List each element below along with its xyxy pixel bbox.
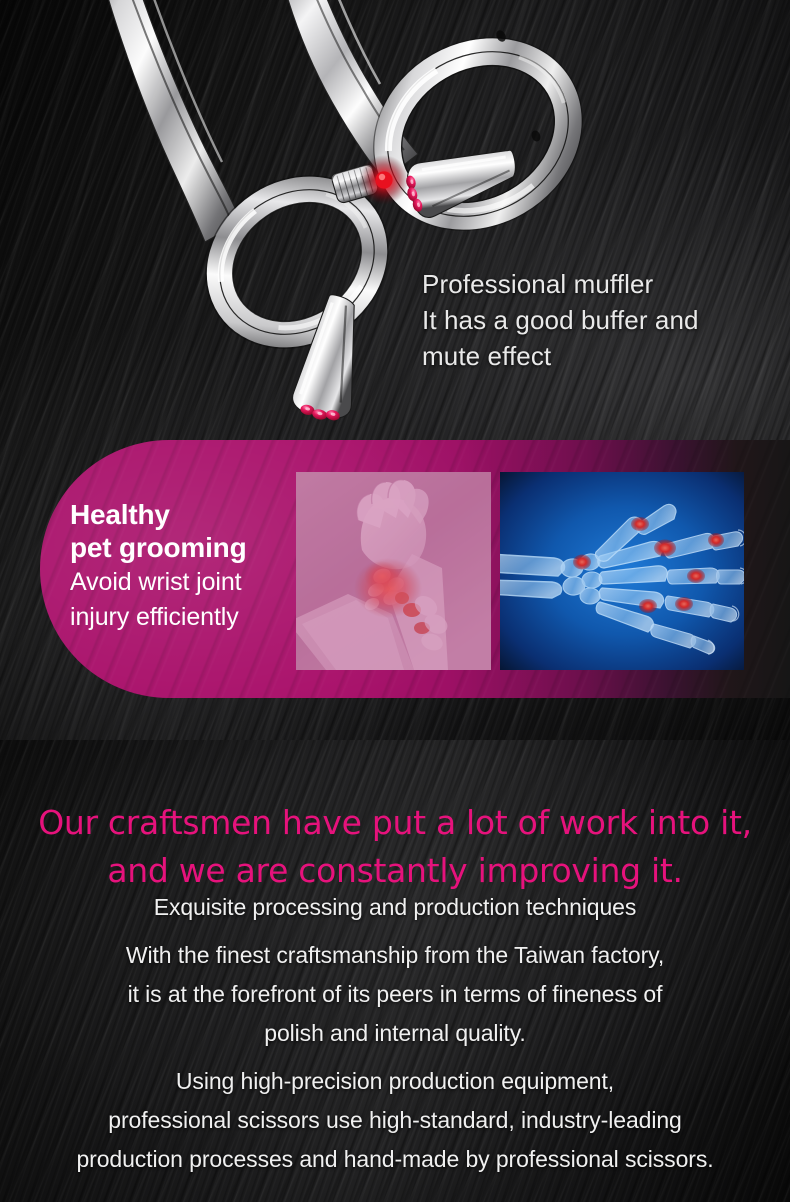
paragraph-2-line-2: it is at the forefront of its peers in t… [0, 975, 790, 1014]
craftsmanship-panel: Our craftsmen have put a lot of work int… [0, 740, 790, 1202]
paragraph-3-line-1: Using high-precision production equipmen… [0, 1062, 790, 1101]
headline-line-1: Our craftsmen have put a lot of work int… [0, 799, 790, 847]
muffler-caption-line-2: It has a good buffer and [422, 302, 752, 338]
muffler-caption-line-1: Professional muffler [422, 266, 752, 302]
health-band-copy: Healthy pet grooming Avoid wrist joint i… [70, 498, 310, 634]
paragraph-2: With the finest craftsmanship from the T… [0, 936, 790, 1053]
red-jewel-pivot-screw [331, 155, 409, 205]
scissors-product-image [0, 0, 790, 464]
hero-scissors-panel: Professional muffler It has a good buffe… [0, 0, 790, 740]
health-subtitle-line-2: injury efficiently [70, 601, 310, 634]
health-title-line-1: Healthy [70, 498, 310, 531]
paragraph-2-line-1: With the finest craftsmanship from the T… [0, 936, 790, 975]
paragraph-1: Exquisite processing and production tech… [0, 888, 790, 927]
wrist-xray-injury-photo [296, 472, 491, 670]
craftsmanship-headline: Our craftsmen have put a lot of work int… [0, 799, 790, 895]
craftsmanship-body-copy: Exquisite processing and production tech… [0, 888, 790, 1179]
healthy-pet-grooming-band: Healthy pet grooming Avoid wrist joint i… [40, 440, 790, 698]
health-subtitle-line-1: Avoid wrist joint [70, 566, 310, 599]
muffler-caption-line-3: mute effect [422, 338, 752, 374]
health-title-line-2: pet grooming [70, 531, 310, 564]
product-detail-page: Professional muffler It has a good buffe… [0, 0, 790, 1202]
paragraph-3-line-3: production processes and hand-made by pr… [0, 1140, 790, 1179]
paragraph-3-line-2: professional scissors use high-standard,… [0, 1101, 790, 1140]
paragraph-3: Using high-precision production equipmen… [0, 1062, 790, 1179]
muffler-caption: Professional muffler It has a good buffe… [422, 266, 752, 374]
paragraph-1-line-1: Exquisite processing and production tech… [0, 888, 790, 927]
hand-joint-xray-photo [500, 472, 744, 670]
paragraph-2-line-3: polish and internal quality. [0, 1014, 790, 1053]
